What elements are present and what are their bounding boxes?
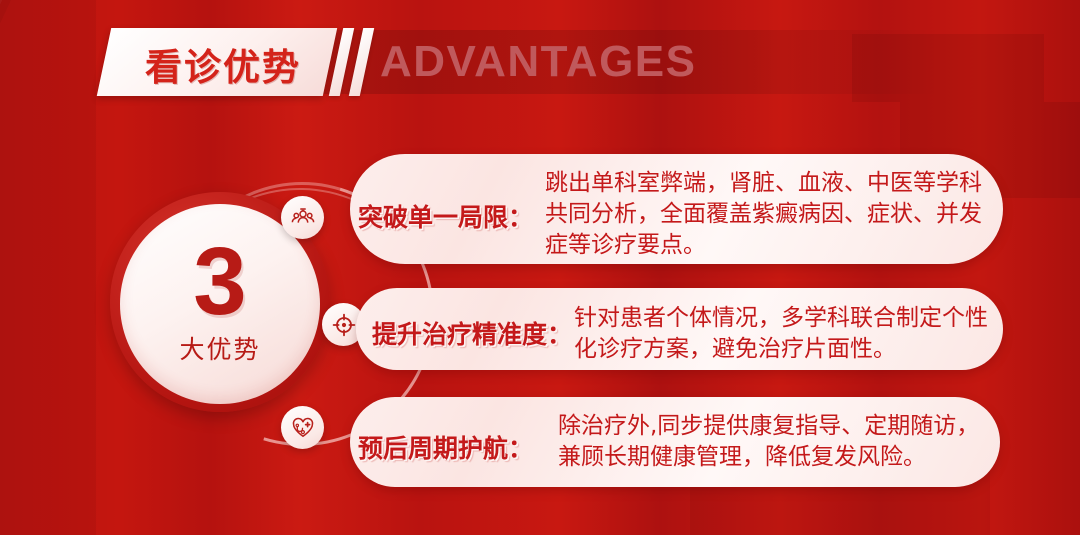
advantage-card-3[interactable]: 预后周期护航： 除治疗外,同步提供康复指导、定期随访，兼顾长期健康管理，降低复发… — [350, 397, 1000, 487]
advantage-body-2: 针对患者个体情况，多学科联合制定个性化诊疗方案，避免治疗片面性。 — [574, 303, 994, 365]
header: 看诊优势 ADVANTAGES — [0, 24, 1080, 100]
advantages-infographic: 看诊优势 ADVANTAGES 3 大优势 — [0, 0, 1080, 535]
medical-team-icon — [281, 196, 324, 239]
page-title-en: ADVANTAGES — [380, 30, 697, 94]
page-title-cn: 看诊优势 — [118, 38, 328, 90]
advantage-card-2[interactable]: 提升治疗精准度： 针对患者个体情况，多学科联合制定个性化诊疗方案，避免治疗片面性… — [356, 288, 1003, 370]
advantage-body-3: 除治疗外,同步提供康复指导、定期随访，兼顾长期健康管理，降低复发风险。 — [558, 411, 988, 473]
advantage-label-2: 提升治疗精准度： — [372, 315, 572, 351]
advantage-body-1: 跳出单科室弊端，肾脏、血液、中医等学科共同分析，全面覆盖紫癜病因、症状、并发症等… — [545, 168, 995, 260]
advantage-card-1[interactable]: 突破单一局限： 跳出单科室弊端，肾脏、血液、中医等学科共同分析，全面覆盖紫癜病因… — [350, 154, 1003, 264]
advantage-count: 3 — [193, 238, 246, 326]
heart-stethoscope-icon — [281, 406, 324, 449]
advantage-count-label: 大优势 — [179, 330, 260, 366]
advantage-label-3: 预后周期护航： — [358, 429, 533, 465]
advantage-label-1: 突破单一局限： — [358, 198, 533, 234]
